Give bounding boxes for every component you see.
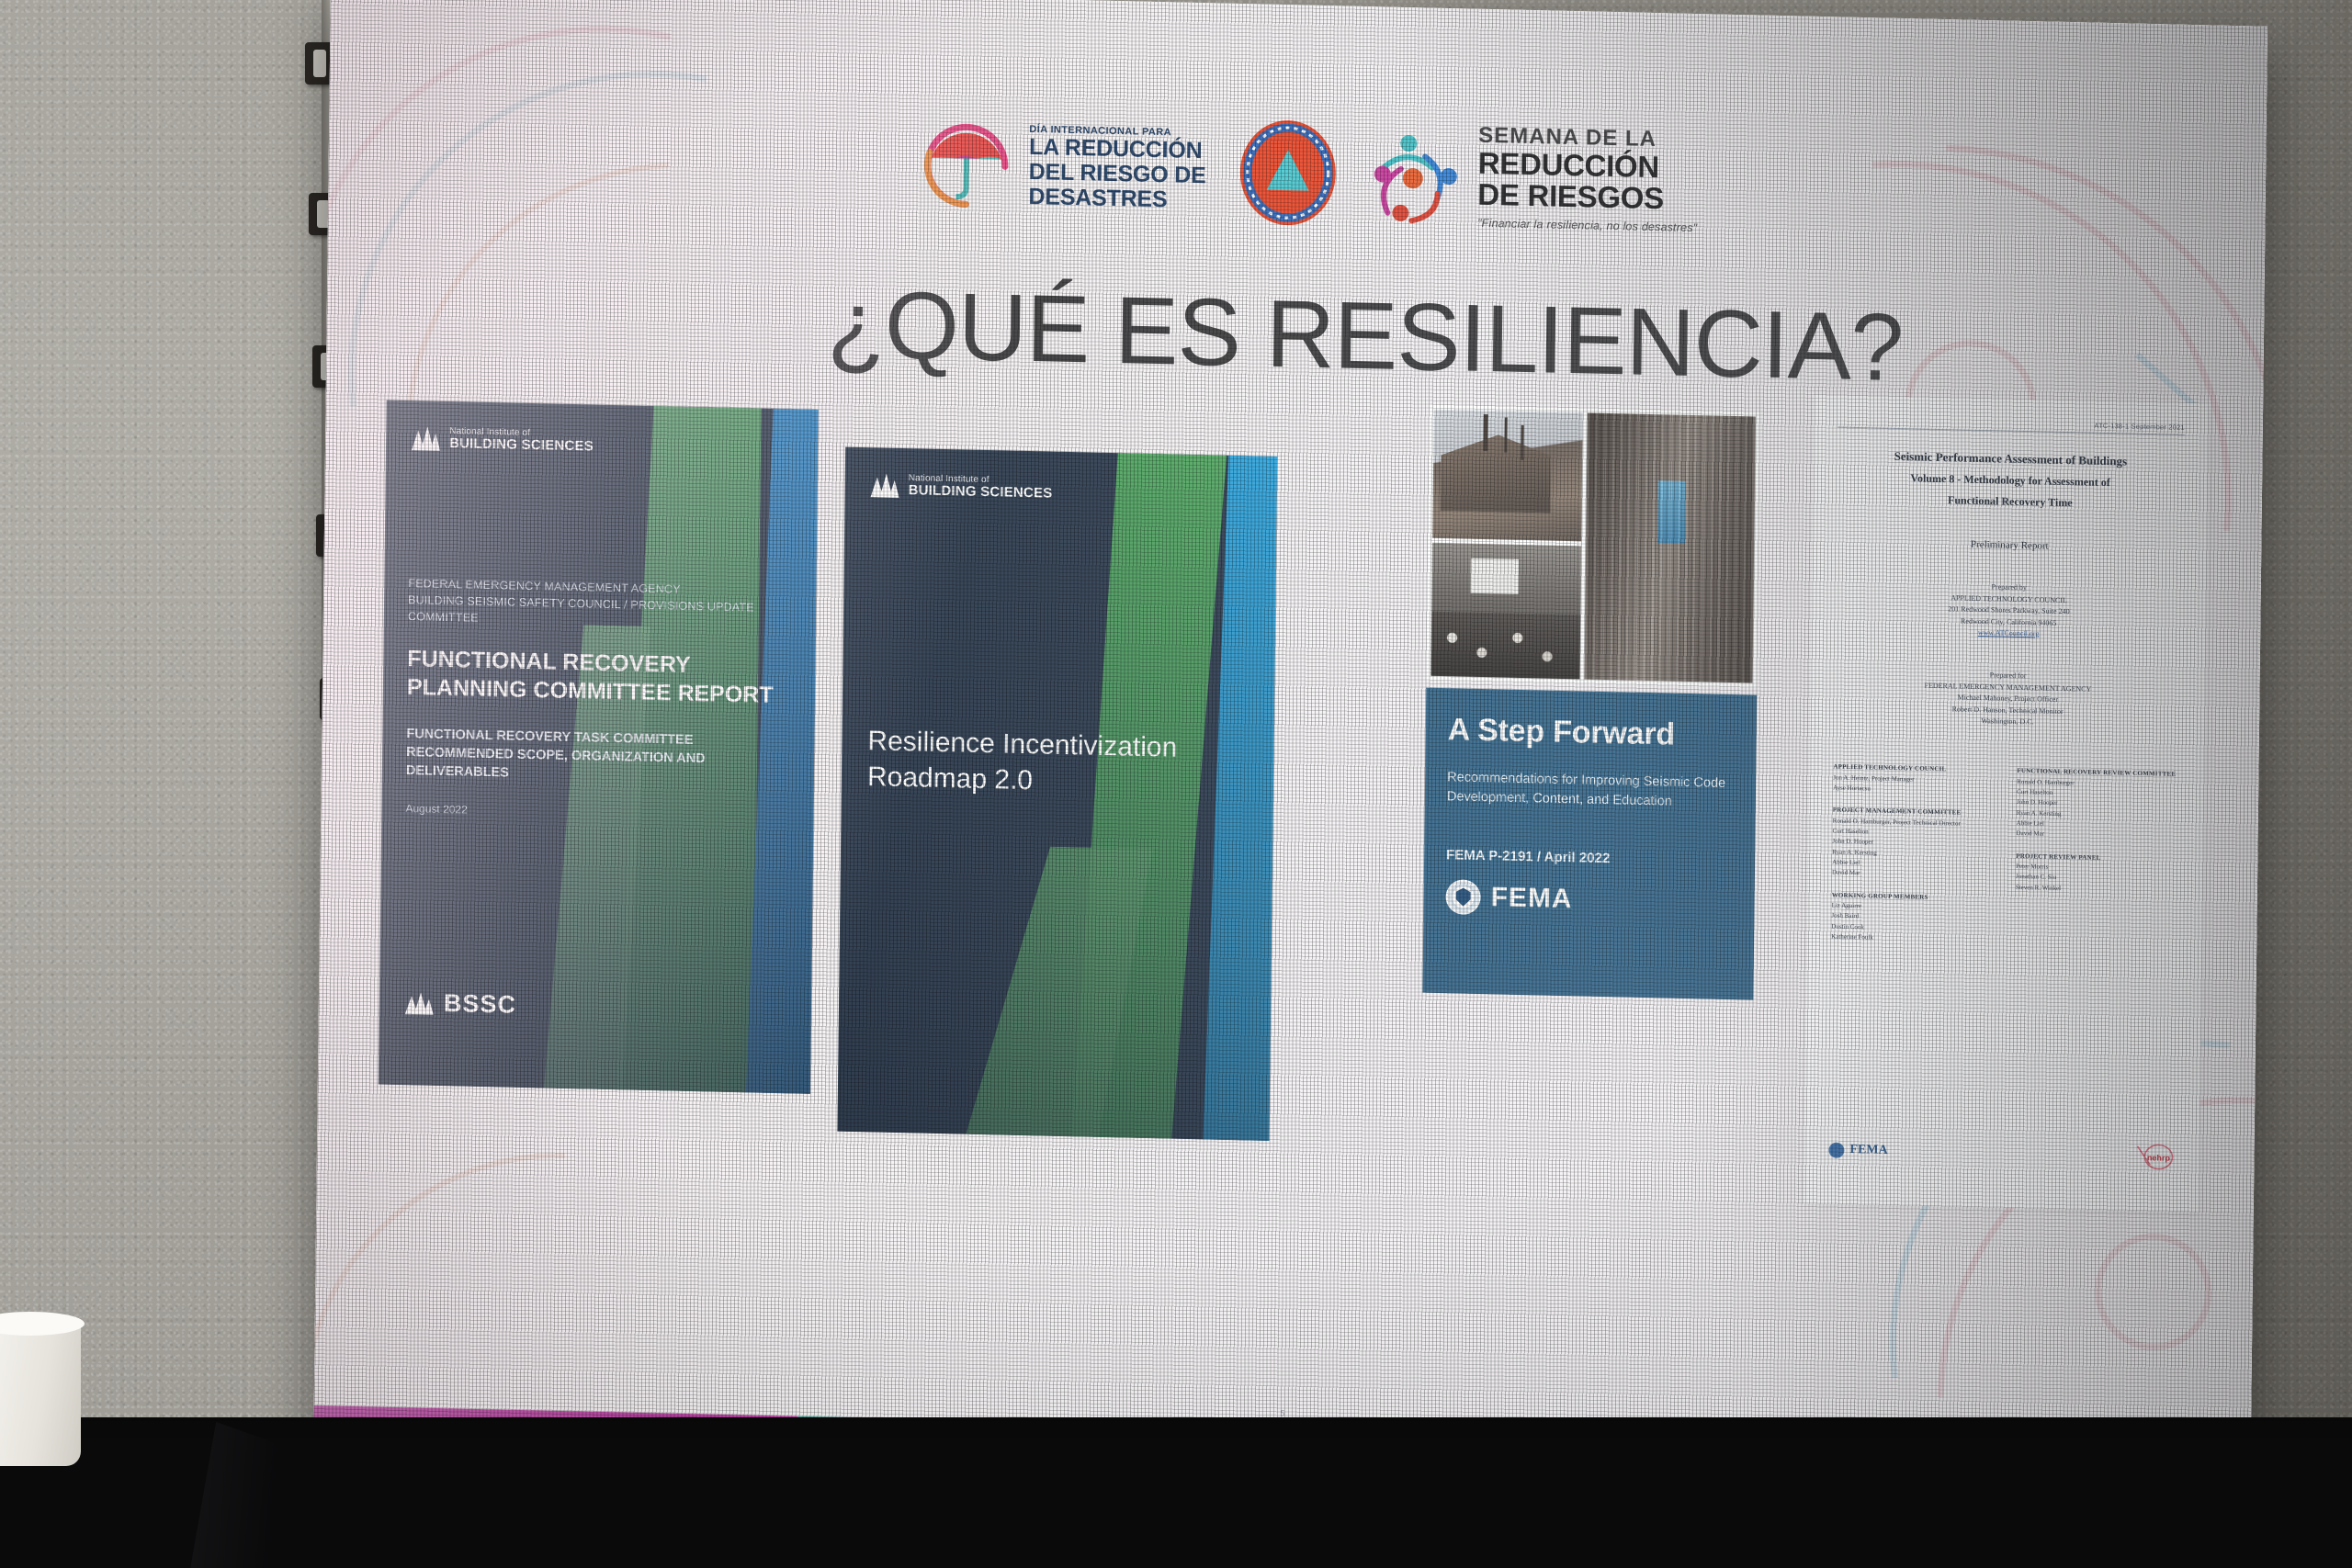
iddr-line3: DESASTRES bbox=[1028, 185, 1205, 213]
atc-committee-column-left: APPLIED TECHNOLOGY COUNCILJon A. Heintz,… bbox=[1831, 762, 1996, 946]
damaged-building-with-crane-photo bbox=[1432, 410, 1583, 542]
iddr-logo-text: DÍA INTERNACIONAL PARA LA REDUCCIÓN DEL … bbox=[1028, 124, 1206, 213]
umbrella-circle-icon bbox=[916, 115, 1016, 216]
srr-logo-text: SEMANA DE LA REDUCCIÓN DE RIESGOS "Finan… bbox=[1477, 125, 1699, 234]
page-title: ¿QUÉ ES RESILIENCIA? bbox=[758, 268, 1972, 404]
table-drape bbox=[0, 1417, 2352, 1568]
atc-title-line2: Volume 8 - Methodology for Assessment of bbox=[1837, 469, 2184, 492]
atc-prepared-for: Prepared for FEDERAL EMERGENCY MANAGEMEN… bbox=[1834, 667, 2182, 731]
fema-seal-icon bbox=[1445, 879, 1480, 915]
nibs-logo: National Institute of BUILDING SCIENCES bbox=[410, 424, 594, 456]
nibs-mark-icon bbox=[869, 471, 900, 500]
logo-band: DÍA INTERNACIONAL PARA LA REDUCCIÓN DEL … bbox=[916, 96, 2020, 258]
fema-seal-icon bbox=[1828, 1142, 1844, 1157]
atc-report-cover: ATC-138-1 September 2021 Seismic Perform… bbox=[1804, 395, 2209, 1213]
photo-collage bbox=[1426, 405, 1760, 688]
atc-title-line3: Functional Recovery Time bbox=[1837, 491, 2184, 513]
cover1-subtitle: FUNCTIONAL RECOVERY TASK COMMITTEE RECOM… bbox=[406, 725, 784, 788]
nibs-logo: National Institute of BUILDING SCIENCES bbox=[869, 471, 1053, 502]
step-forward-subtitle: Recommendations for Improving Seismic Co… bbox=[1447, 768, 1734, 813]
covers-row: National Institute of BUILDING SCIENCES … bbox=[378, 400, 2205, 1166]
photo-scene: DÍA INTERNACIONAL PARA LA REDUCCIÓN DEL … bbox=[0, 0, 2352, 1568]
civil-defense-triangle-icon bbox=[1233, 118, 1342, 229]
atc-title-line1: Seismic Performance Assessment of Buildi… bbox=[1837, 448, 2184, 470]
atc-preliminary-label: Preliminary Report bbox=[1836, 536, 2183, 555]
srr-logo: SEMANA DE LA REDUCCIÓN DE RIESGOS "Finan… bbox=[1369, 122, 1699, 234]
fema-label: FEMA bbox=[1849, 1143, 1887, 1158]
atc-footer-logos: FEMA nehrp bbox=[1828, 1134, 2176, 1173]
fema-logo: FEMA bbox=[1445, 879, 1732, 920]
slide-screen: DÍA INTERNACIONAL PARA LA REDUCCIÓN DEL … bbox=[313, 0, 2267, 1496]
atc-committee-columns: APPLIED TECHNOLOGY COUNCILJon A. Heintz,… bbox=[1831, 762, 2180, 950]
fema-label: FEMA bbox=[1490, 882, 1572, 915]
nehrp-logo-icon: nehrp bbox=[2133, 1141, 2176, 1173]
nibs-line2: BUILDING SCIENCES bbox=[449, 436, 594, 455]
cover-functional-recovery-planning: National Institute of BUILDING SCIENCES … bbox=[379, 400, 819, 1093]
bssc-label: BSSC bbox=[444, 989, 516, 1020]
cover1-kicker-2: BUILDING SEISMIC SAFETY COUNCIL / PROVIS… bbox=[408, 592, 785, 633]
cover1-title: FUNCTIONAL RECOVERY PLANNING COMMITTEE R… bbox=[407, 645, 785, 709]
cover-resilience-incentivization-roadmap: National Institute of BUILDING SCIENCES … bbox=[837, 447, 1277, 1141]
cover-a-step-forward: A Step Forward Recommendations for Impro… bbox=[1422, 688, 1757, 1000]
collage-left-column bbox=[1430, 410, 1582, 680]
white-object bbox=[0, 1319, 81, 1466]
step-forward-code: FEMA P-2191 / April 2022 bbox=[1446, 847, 1733, 869]
decorative-arcs-bottom-left bbox=[313, 1113, 648, 1433]
iddr-logo: DÍA INTERNACIONAL PARA LA REDUCCIÓN DEL … bbox=[916, 115, 1206, 220]
srr-line3: DE RIESGOS bbox=[1477, 179, 1698, 216]
nibs-logo-text: National Institute of BUILDING SCIENCES bbox=[449, 426, 594, 455]
atc-prepared-by: Prepared by APPLIED TECHNOLOGY COUNCIL 2… bbox=[1835, 579, 2183, 643]
people-figures-icon bbox=[1369, 131, 1467, 229]
srr-tagline: "Financiar la resiliencia, no los desast… bbox=[1477, 218, 1697, 234]
svg-text:nehrp: nehrp bbox=[2147, 1153, 2171, 1163]
step-forward-title: A Step Forward bbox=[1448, 712, 1735, 754]
bssc-logo: BSSC bbox=[403, 988, 516, 1020]
decorative-arcs-left bbox=[313, 0, 753, 434]
led-video-wall: DÍA INTERNACIONAL PARA LA REDUCCIÓN DEL … bbox=[313, 0, 2267, 1515]
presentation-slide: DÍA INTERNACIONAL PARA LA REDUCCIÓN DEL … bbox=[313, 0, 2267, 1496]
cover2-title-line2: Roadmap 2.0 bbox=[867, 759, 1180, 802]
atc-committee-column-right: FUNCTIONAL RECOVERY REVIEW COMMITTEERona… bbox=[2015, 766, 2180, 950]
nibs-line2: BUILDING SCIENCES bbox=[909, 483, 1053, 502]
cover2-title: Resilience Incentivization Roadmap 2.0 bbox=[867, 723, 1181, 802]
library-stacks-corridor-photo bbox=[1584, 412, 1755, 682]
auditorium-audience-photo bbox=[1430, 543, 1581, 680]
bssc-mark-icon bbox=[403, 990, 435, 1017]
cover1-body: FEDERAL EMERGENCY MANAGEMENT AGENCY BUIL… bbox=[405, 575, 785, 823]
nibs-mark-icon bbox=[410, 424, 441, 453]
nibs-logo-text: National Institute of BUILDING SCIENCES bbox=[909, 473, 1053, 502]
atc-doc-code: ATC-138-1 September 2021 bbox=[1837, 416, 2185, 432]
fema-logo: FEMA bbox=[1828, 1142, 1887, 1158]
